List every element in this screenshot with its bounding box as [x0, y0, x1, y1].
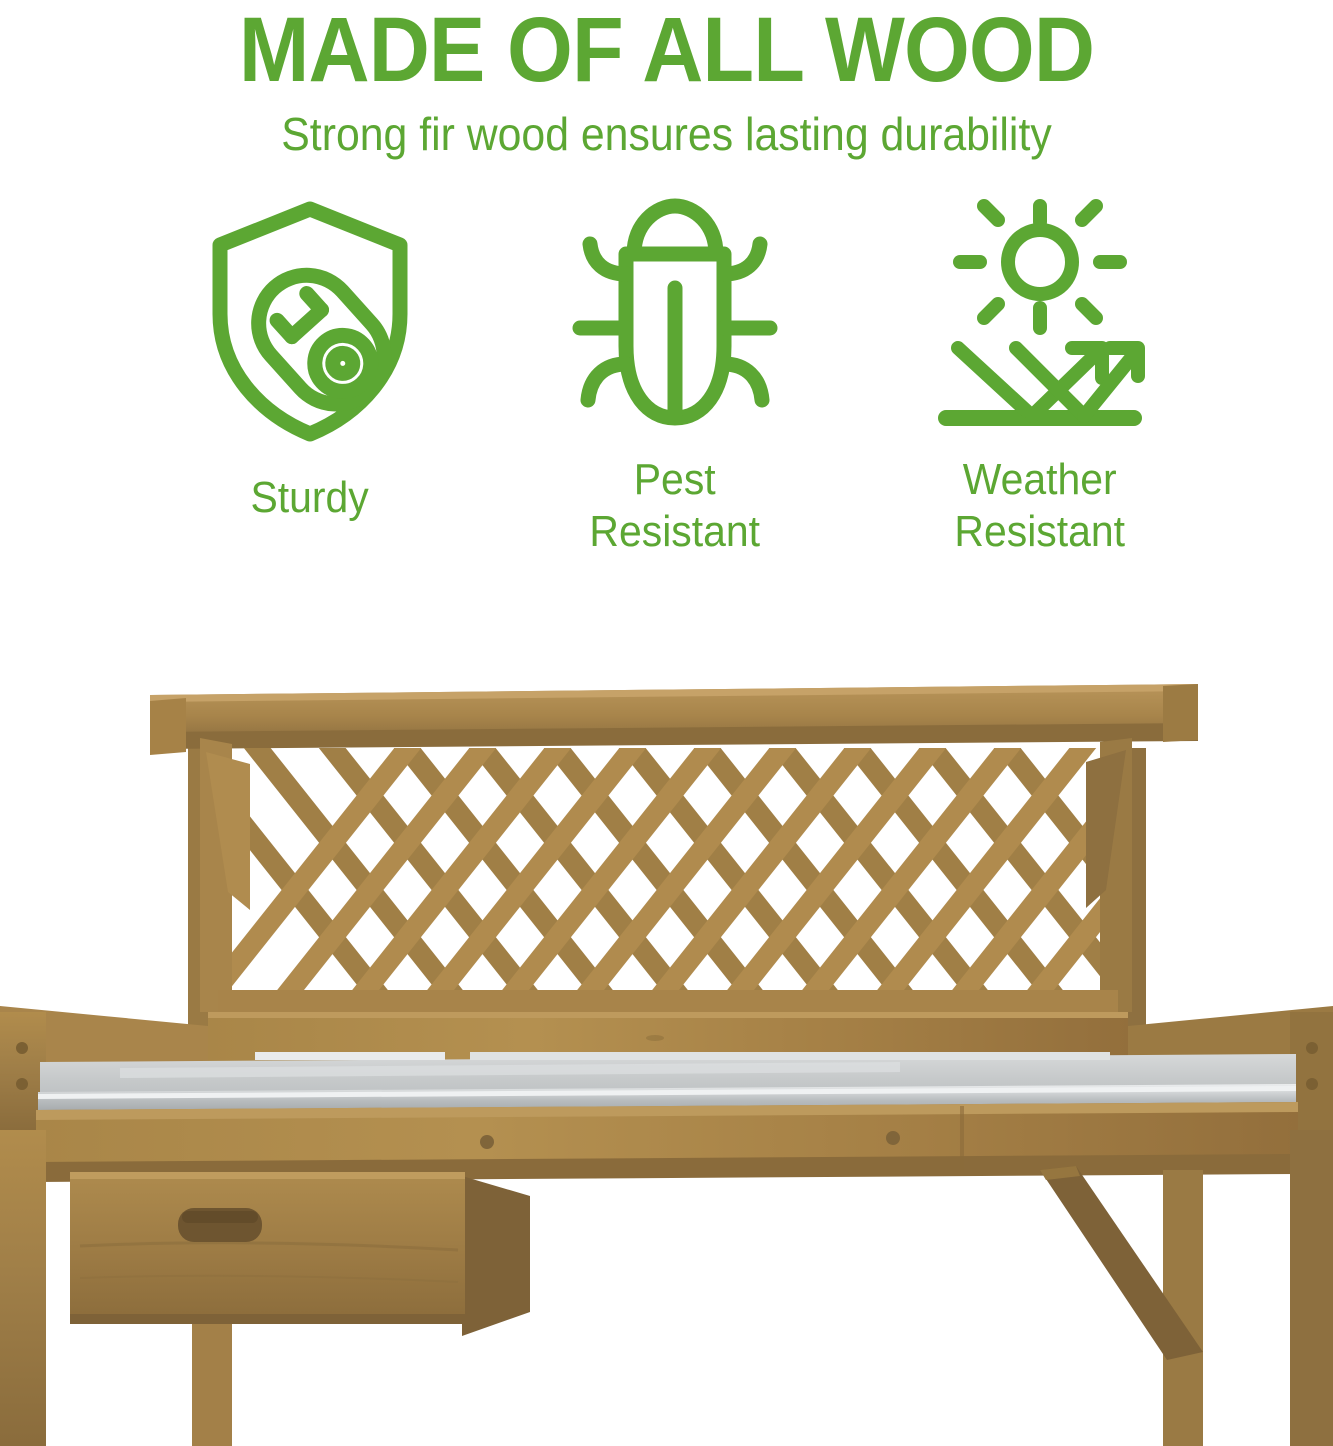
sun-reflect-surface-icon	[932, 196, 1148, 446]
storage-drawer[interactable]	[70, 1172, 530, 1336]
page-title: MADE OF ALL WOOD	[53, 2, 1279, 98]
drawer-side-panel	[462, 1176, 530, 1336]
leg-rear-right	[1290, 1130, 1333, 1446]
beetle-bug-icon	[564, 196, 786, 446]
feature-label-pest-resistant: Pest Resistant	[590, 454, 761, 558]
feature-label-weather-resistant: Weather Resistant	[955, 454, 1126, 558]
feature-item-weather-resistant: Weather Resistant	[890, 196, 1190, 558]
feature-item-sturdy: Sturdy	[160, 196, 460, 524]
feature-list: Sturdy	[160, 196, 1190, 576]
feature-label-line-1: Pest	[634, 455, 716, 504]
product-photo	[0, 660, 1333, 1446]
page-subtitle: Strong fir wood ensures lasting durabili…	[47, 106, 1287, 162]
leg-rear-left	[0, 1130, 46, 1446]
front-apron	[36, 1102, 1298, 1182]
promo-banner: MADE OF ALL WOOD Strong fir wood ensures…	[0, 0, 1333, 660]
leg-front-left	[192, 1324, 232, 1446]
potting-bench-illustration	[0, 660, 1333, 1446]
shield-wood-log-icon	[204, 196, 416, 446]
feature-label-line-2: Resistant	[955, 507, 1126, 556]
feature-label-line-2: Resistant	[590, 507, 761, 556]
feature-item-pest-resistant: Pest Resistant	[525, 196, 825, 558]
feature-label-line-1: Weather	[963, 455, 1117, 504]
feature-label-sturdy: Sturdy	[251, 472, 369, 524]
